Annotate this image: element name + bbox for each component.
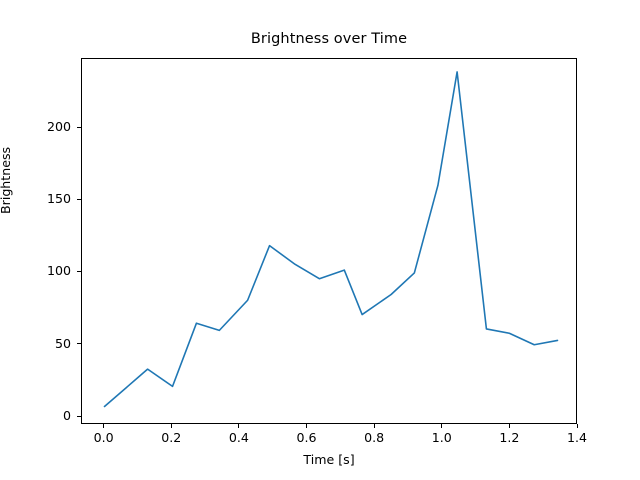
y-tick-label: 150 xyxy=(11,193,71,206)
figure-canvas: Brightness over Time 0501001502000.00.20… xyxy=(0,0,640,480)
x-tick-label: 0.6 xyxy=(276,432,336,445)
x-tick-mark xyxy=(577,424,578,428)
line-plot-svg xyxy=(82,59,576,423)
x-tick-label: 0.4 xyxy=(209,432,269,445)
plot-area xyxy=(81,58,577,424)
x-tick-label: 0.2 xyxy=(141,432,201,445)
y-axis-label: Brightness xyxy=(0,147,13,214)
x-tick-mark xyxy=(374,424,375,428)
x-tick-mark xyxy=(306,424,307,428)
x-tick-mark xyxy=(238,424,239,428)
y-tick-label: 100 xyxy=(11,265,71,278)
y-tick-label: 50 xyxy=(11,338,71,351)
y-tick-label: 0 xyxy=(11,410,71,423)
y-tick-label: 200 xyxy=(11,121,71,134)
x-tick-mark xyxy=(441,424,442,428)
x-tick-label: 1.4 xyxy=(547,432,607,445)
x-tick-label: 0.8 xyxy=(344,432,404,445)
chart-title: Brightness over Time xyxy=(81,31,577,47)
x-tick-mark xyxy=(509,424,510,428)
x-axis-label: Time [s] xyxy=(81,452,577,467)
x-tick-label: 1.2 xyxy=(479,432,539,445)
data-line-brightness xyxy=(104,72,557,407)
x-tick-mark xyxy=(103,424,104,428)
x-tick-mark xyxy=(171,424,172,428)
x-tick-label: 1.0 xyxy=(412,432,472,445)
x-tick-label: 0.0 xyxy=(74,432,134,445)
